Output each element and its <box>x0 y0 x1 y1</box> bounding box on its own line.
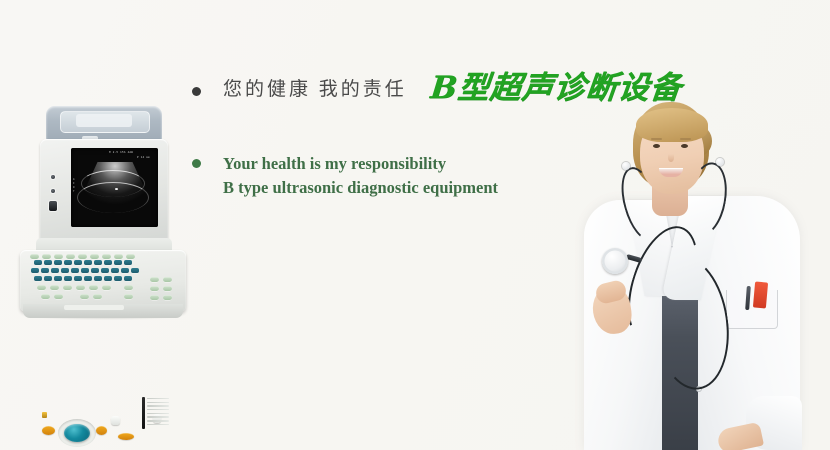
amber-button-wide <box>118 433 134 440</box>
coat-chest-pocket <box>726 290 778 329</box>
amber-button-print <box>96 426 107 435</box>
pocket-red-item <box>753 281 768 308</box>
subhead-row: Your health is my responsibility B type … <box>192 152 498 200</box>
ultrasound-machine-image: M 2.5 15b 4dB P 14 mm GFDT <box>16 106 188 326</box>
eye-left <box>653 144 660 148</box>
screen-overlay-text-2: P 14 mm <box>137 156 150 159</box>
bullet-icon-dark <box>192 87 201 96</box>
english-line-1: Your health is my responsibility <box>223 152 498 176</box>
product-banner: M 2.5 15b 4dB P 14 mm GFDT <box>0 0 830 450</box>
doctor-photo <box>540 96 830 450</box>
english-line-2: B type ultrasonic diagnostic equipment <box>223 176 498 200</box>
screen-overlay-scale: GFDT <box>73 178 75 194</box>
scan-marker <box>115 188 118 190</box>
eyebrow-left <box>651 138 662 140</box>
carry-handle <box>76 114 132 127</box>
english-text-block: Your health is my responsibility B type … <box>223 152 498 200</box>
ultrasound-screen: M 2.5 15b 4dB P 14 mm GFDT <box>71 148 158 227</box>
eye-right <box>681 144 688 148</box>
tgc-slider-rail <box>142 397 145 429</box>
trackball <box>64 424 90 442</box>
hair-front <box>636 108 708 142</box>
amber-button-freeze <box>42 426 55 435</box>
stethoscope-chestpiece <box>602 248 628 274</box>
bullet-icon-green <box>192 159 201 168</box>
probe-port <box>49 201 57 211</box>
tagline-chinese: 您的健康 我的责任 <box>223 78 407 102</box>
machine-keyboard-deck <box>20 250 186 312</box>
power-switch <box>42 412 47 418</box>
stethoscope-eartip-left <box>622 162 630 170</box>
nose <box>668 154 674 162</box>
stethoscope-eartip-right <box>716 158 724 166</box>
white-knob-1 <box>111 416 120 425</box>
bezel-knob-2 <box>51 189 55 193</box>
machine-lid <box>46 106 162 142</box>
scan-arc-2 <box>77 182 149 213</box>
machine-monitor: M 2.5 15b 4dB P 14 mm GFDT <box>40 139 168 243</box>
bezel-knob-1 <box>51 175 55 179</box>
screen-overlay-text-1: M 2.5 15b 4dB <box>109 151 133 154</box>
tgc-slider-bank <box>147 398 169 428</box>
eyebrow-right <box>680 138 691 140</box>
machine-front-lip <box>64 305 124 310</box>
